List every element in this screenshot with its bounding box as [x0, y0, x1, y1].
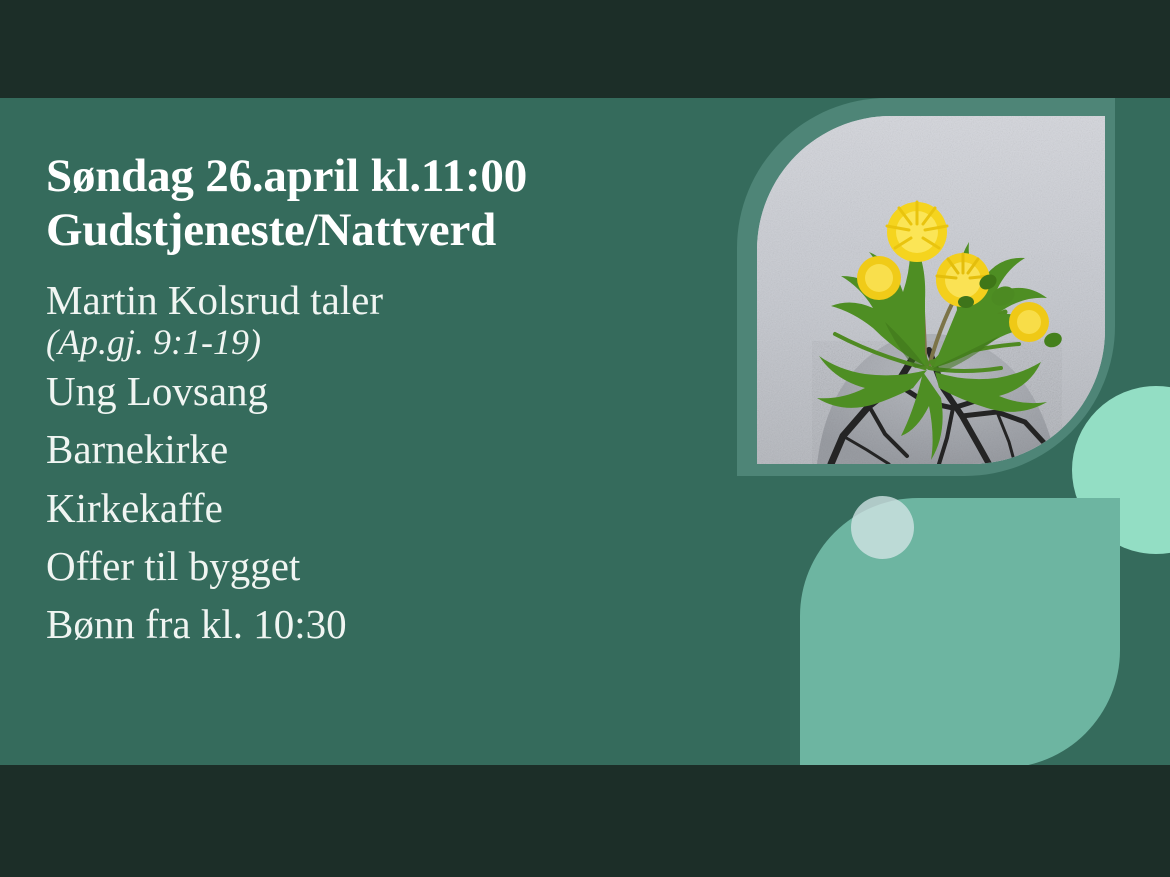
list-item: Offer til bygget: [46, 537, 746, 595]
leaf-block-decoration: [800, 498, 1120, 765]
letterbox-bottom: [0, 765, 1170, 877]
pale-circle-decoration: [851, 496, 914, 559]
dandelion-photo: [757, 116, 1105, 464]
list-item: Kirkekaffe: [46, 479, 746, 537]
page-title: Søndag 26.april kl.11:00 Gudstjeneste/Na…: [46, 150, 746, 257]
presentation-slide: Søndag 26.april kl.11:00 Gudstjeneste/Na…: [0, 0, 1170, 877]
headline-line-2: Gudstjeneste/Nattverd: [46, 204, 746, 258]
agenda-list: Martin Kolsrud taler (Ap.gj. 9:1-19) Ung…: [46, 271, 746, 653]
list-item: Ung Lovsang: [46, 362, 746, 420]
text-column: Søndag 26.april kl.11:00 Gudstjeneste/Na…: [46, 150, 746, 653]
slide-canvas: Søndag 26.april kl.11:00 Gudstjeneste/Na…: [0, 98, 1170, 765]
list-item: Bønn fra kl. 10:30: [46, 595, 746, 653]
list-item: Martin Kolsrud taler: [46, 271, 746, 329]
list-item: Barnekirke: [46, 420, 746, 478]
list-item-scripture-reference: (Ap.gj. 9:1-19): [46, 323, 746, 362]
letterbox-top: [0, 0, 1170, 98]
headline-line-1: Søndag 26.april kl.11:00: [46, 150, 746, 204]
